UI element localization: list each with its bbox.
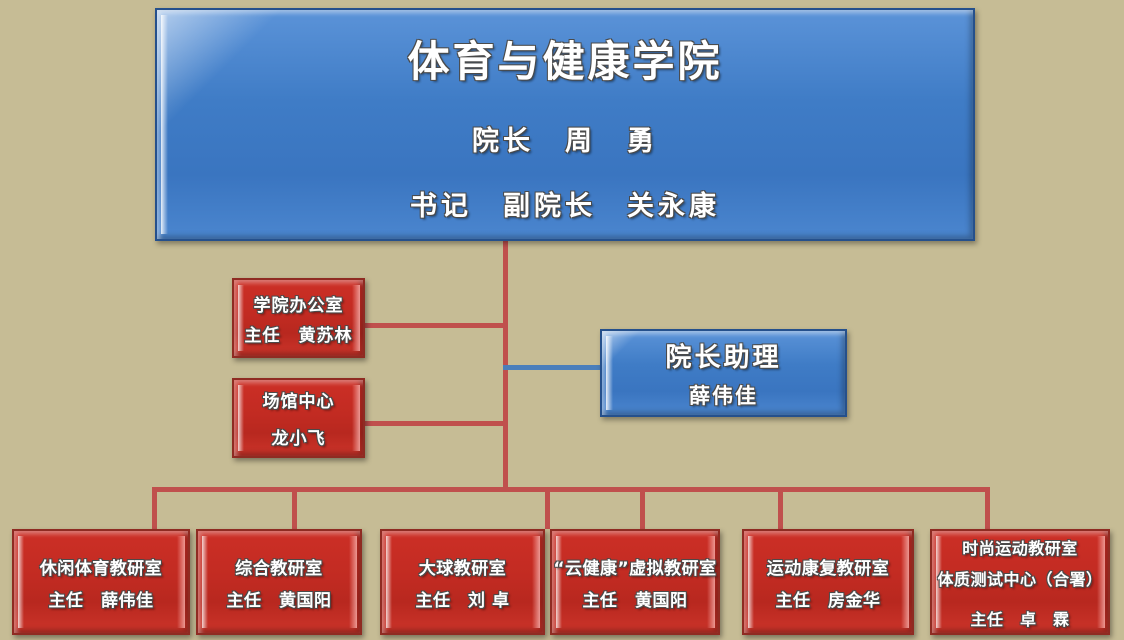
node-department-big-ball[interactable]: 大球教研室 主任 刘 卓: [380, 529, 545, 635]
dean-line: 院长 周 勇: [472, 119, 658, 158]
dept-name: 休闲体育教研室: [40, 554, 163, 579]
venue-leader: 龙小飞: [272, 424, 326, 449]
node-college-root[interactable]: 体育与健康学院 院长 周 勇 书记 副院长 关永康: [155, 8, 975, 241]
connector-to-office: [363, 323, 506, 328]
connector-drop-dept-2: [545, 487, 550, 529]
dept-leader: 主任 卓 霖: [970, 606, 1069, 630]
node-department-comprehensive[interactable]: 综合教研室 主任 黄国阳: [196, 529, 362, 635]
dept-leader: 主任 刘 卓: [416, 586, 510, 611]
dept-leader: 主任 房金华: [776, 586, 881, 611]
dept-leader: 主任 薛伟佳: [49, 586, 154, 611]
assistant-role: 院长助理: [665, 337, 781, 374]
node-department-fashion-sports[interactable]: 时尚运动教研室 体质测试中心（合署） 主任 卓 霖: [930, 529, 1110, 635]
secretary-line: 书记 副院长 关永康: [410, 184, 720, 223]
node-department-leisure-sports[interactable]: 休闲体育教研室 主任 薛伟佳: [12, 529, 190, 635]
connector-drop-dept-3: [640, 487, 645, 529]
dept-name: 时尚运动教研室: [962, 535, 1078, 559]
connector-drop-dept-4: [778, 487, 783, 529]
venue-name: 场馆中心: [263, 387, 335, 412]
dept-leader: 主任 黄国阳: [227, 586, 332, 611]
node-college-office[interactable]: 学院办公室 主任 黄苏林: [232, 278, 365, 358]
connector-department-bus: [152, 487, 990, 492]
college-name: 体育与健康学院: [407, 28, 722, 89]
connector-drop-dept-0: [152, 487, 157, 529]
connector-drop-dept-5: [985, 487, 990, 529]
dept-leader: 主任 黄国阳: [583, 586, 688, 611]
assistant-name: 薛伟佳: [689, 380, 758, 410]
office-name: 学院办公室: [254, 291, 344, 316]
connector-drop-dept-1: [292, 487, 297, 529]
dept-alias: 体质测试中心（合署）: [937, 566, 1102, 590]
dept-name: 运动康复教研室: [767, 554, 890, 579]
dept-name: 大球教研室: [419, 554, 507, 579]
node-venue-center[interactable]: 场馆中心 龙小飞: [232, 378, 365, 458]
office-leader: 主任 黄苏林: [245, 321, 353, 346]
node-department-cloud-health-virtual[interactable]: “云健康”虚拟教研室 主任 黄国阳: [550, 529, 720, 635]
org-chart-canvas: 体育与健康学院 院长 周 勇 书记 副院长 关永康 院长助理 薛伟佳 学院办公室…: [0, 0, 1124, 640]
node-department-sports-rehab[interactable]: 运动康复教研室 主任 房金华: [742, 529, 914, 635]
dept-name: 综合教研室: [235, 554, 323, 579]
connector-to-venue: [363, 421, 506, 426]
connector-to-assistant: [503, 365, 603, 370]
node-dean-assistant[interactable]: 院长助理 薛伟佳: [600, 329, 847, 417]
dept-name: “云健康”虚拟教研室: [553, 554, 716, 579]
